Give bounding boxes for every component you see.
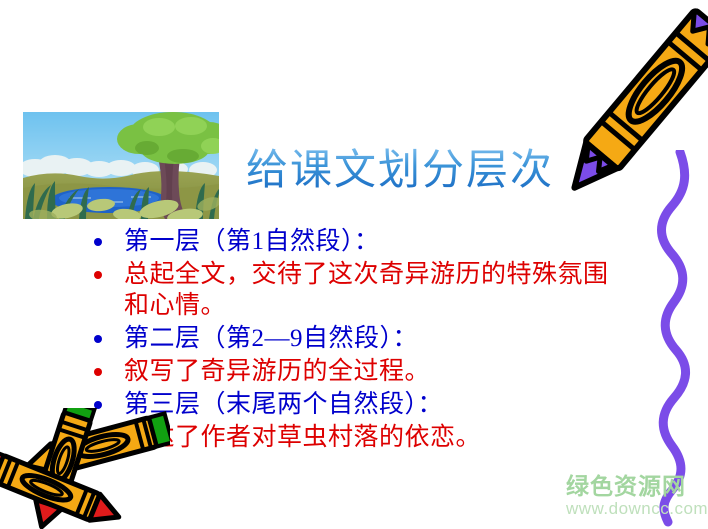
list-item-label: 第一层（第1自然段）： [124, 226, 380, 257]
bullet-dot-icon [94, 368, 102, 376]
bullet-dot-icon [94, 401, 102, 409]
list-item-label: 表达了作者对草虫村落的依恋。 [124, 422, 481, 453]
watermark-site-name: 绿色资源网 [566, 474, 708, 499]
scene-picture-graphic [23, 112, 219, 219]
watermark-url: www.downcc.com [566, 499, 708, 519]
bullet-dot-icon [94, 434, 102, 442]
list-item: 第一层（第1自然段）： [94, 226, 624, 257]
list-item-label: 第三层（末尾两个自然段）： [124, 389, 443, 420]
list-item-label: 总起全文，交待了这次奇异游历的特殊氛围和心情。 [124, 259, 624, 321]
watermark: 绿色资源网 www.downcc.com [566, 474, 708, 519]
list-item-label: 叙写了奇异游历的全过程。 [124, 356, 430, 387]
list-item: 第三层（末尾两个自然段）： [94, 389, 624, 420]
page-title: 给课文划分层次 [246, 145, 554, 197]
list-item-label: 第二层（第2—9自然段）： [124, 323, 418, 354]
bullet-dot-icon [94, 335, 102, 343]
list-item: 表达了作者对草虫村落的依恋。 [94, 422, 624, 453]
list-item: 叙写了奇异游历的全过程。 [94, 356, 624, 387]
bullet-dot-icon [94, 271, 102, 279]
list-item: 总起全文，交待了这次奇异游历的特殊氛围和心情。 [94, 259, 624, 321]
list-item: 第二层（第2—9自然段）： [94, 323, 624, 354]
crayon-top-right-graphic [556, 0, 708, 246]
presentation-slide: 给课文划分层次 第一层（第1自然段）： 总起全文，交待了这次奇异游历的特殊氛围和… [0, 0, 708, 529]
scene-picture [23, 112, 219, 219]
bullet-dot-icon [94, 238, 102, 246]
bullet-list: 第一层（第1自然段）： 总起全文，交待了这次奇异游历的特殊氛围和心情。 第二层（… [94, 226, 624, 455]
crayon-icon [556, 0, 708, 246]
